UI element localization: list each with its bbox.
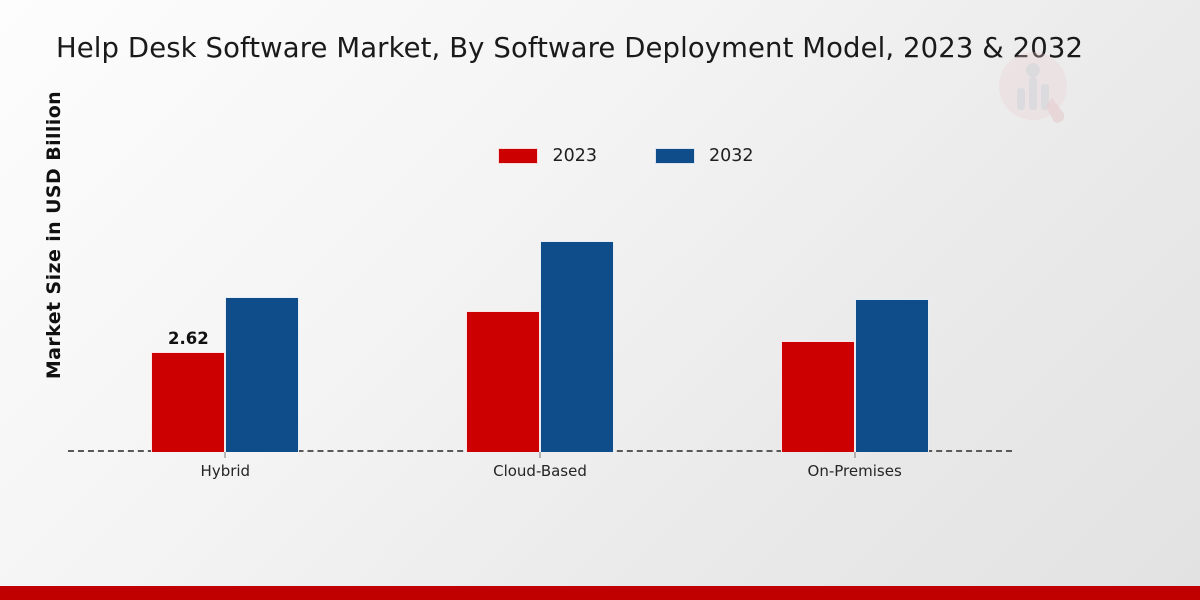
x-axis-tick [539, 452, 540, 458]
bar-value-label: 2.62 [168, 329, 209, 348]
bar-group: On-Premises [697, 186, 1012, 452]
bar-pair: 2.62 [68, 186, 383, 452]
legend-label-2032: 2032 [709, 146, 754, 166]
chart-title: Help Desk Software Market, By Software D… [56, 30, 1166, 66]
legend-swatch-2023 [498, 148, 538, 164]
legend-item-2032[interactable]: 2032 [655, 146, 754, 166]
chart-legend: 2023 2032 [0, 146, 1200, 166]
bar-group: 2.62Hybrid [68, 186, 383, 452]
x-axis-label-hybrid: Hybrid [68, 462, 383, 480]
chart-canvas: Help Desk Software Market, By Software D… [0, 0, 1200, 600]
bar-on-premises-2032[interactable] [855, 299, 929, 452]
legend-swatch-2032 [655, 148, 695, 164]
legend-item-2023[interactable]: 2023 [498, 146, 597, 166]
bar-group: Cloud-Based [383, 186, 698, 452]
footer-accent-bar [0, 586, 1200, 600]
x-axis-tick [854, 452, 855, 458]
x-axis-tick [225, 452, 226, 458]
x-axis-label-on-premises: On-Premises [697, 462, 1012, 480]
bar-hybrid-2023[interactable]: 2.62 [151, 352, 225, 452]
bar-cloud-based-2032[interactable] [540, 241, 614, 452]
bar-cloud-based-2023[interactable] [466, 311, 540, 452]
legend-label-2023: 2023 [552, 146, 597, 166]
x-axis-label-cloud-based: Cloud-Based [383, 462, 698, 480]
bar-hybrid-2032[interactable] [225, 297, 299, 452]
plot-area: 2.62HybridCloud-BasedOn-Premises [68, 186, 1012, 452]
y-axis-title: Market Size in USD Billion [43, 75, 65, 395]
bar-pair [383, 186, 698, 452]
bar-on-premises-2023[interactable] [781, 341, 855, 452]
bar-pair [697, 186, 1012, 452]
